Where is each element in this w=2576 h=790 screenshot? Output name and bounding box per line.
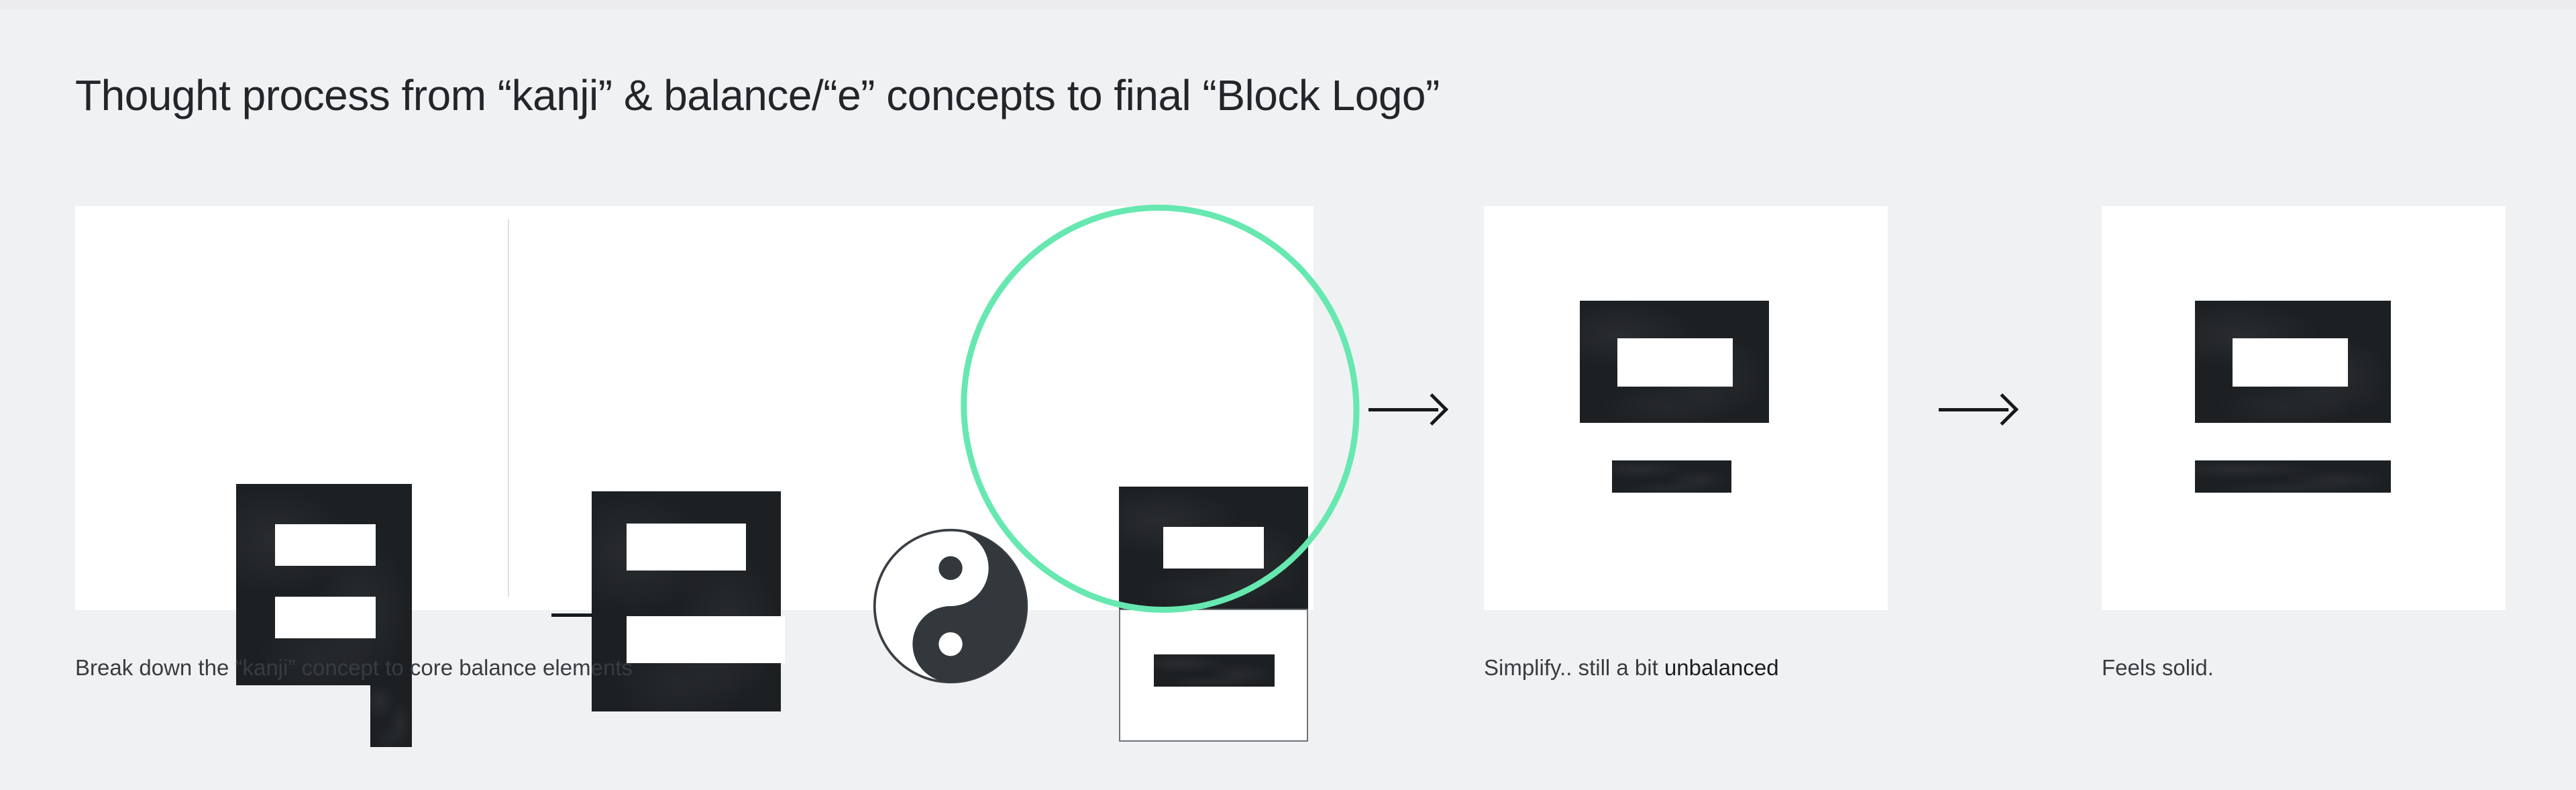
simplified-glyph — [1580, 301, 1781, 502]
glyph-notch-lower — [627, 616, 785, 663]
glyph-slot-upper — [1163, 527, 1264, 569]
panel-divider — [508, 219, 509, 597]
caption-panel-final-logo: Feels solid. — [2102, 654, 2214, 681]
kanji-breakdown-glyph — [236, 484, 437, 747]
caption-text-emphasis: unbalanced — [1664, 655, 1779, 680]
caption-text-lead: Simplify.. still a bit — [1484, 655, 1664, 680]
glyph-slot-lower — [275, 597, 376, 638]
glyph-slot-upper — [275, 524, 376, 566]
top-edge-sliver — [0, 0, 2576, 9]
glyph-lower-bar — [1154, 654, 1275, 687]
page-title: Thought process from “kanji” & balance/“… — [75, 74, 1440, 117]
final-block-logo-glyph — [2195, 301, 2396, 502]
glyph-under-bar — [1612, 460, 1731, 493]
glyph-slot — [1617, 338, 1733, 387]
caption-panel-kanji-breakdown: Break down the “kanji” concept to core b… — [75, 654, 633, 681]
panel-simplify — [1484, 206, 1888, 610]
balance-concept-glyph — [1119, 487, 1320, 742]
caption-panel-simplify: Simplify.. still a bit unbalanced — [1484, 654, 1779, 681]
panel-final-logo — [2102, 206, 2506, 610]
yin-yang-icon — [871, 527, 1030, 685]
glyph-descender-leg — [370, 684, 412, 747]
glyph-under-bar — [2195, 460, 2391, 493]
panel-kanji-breakdown — [75, 206, 1313, 610]
glyph-slot-upper — [627, 524, 746, 571]
glyph-slot — [2233, 338, 2348, 387]
